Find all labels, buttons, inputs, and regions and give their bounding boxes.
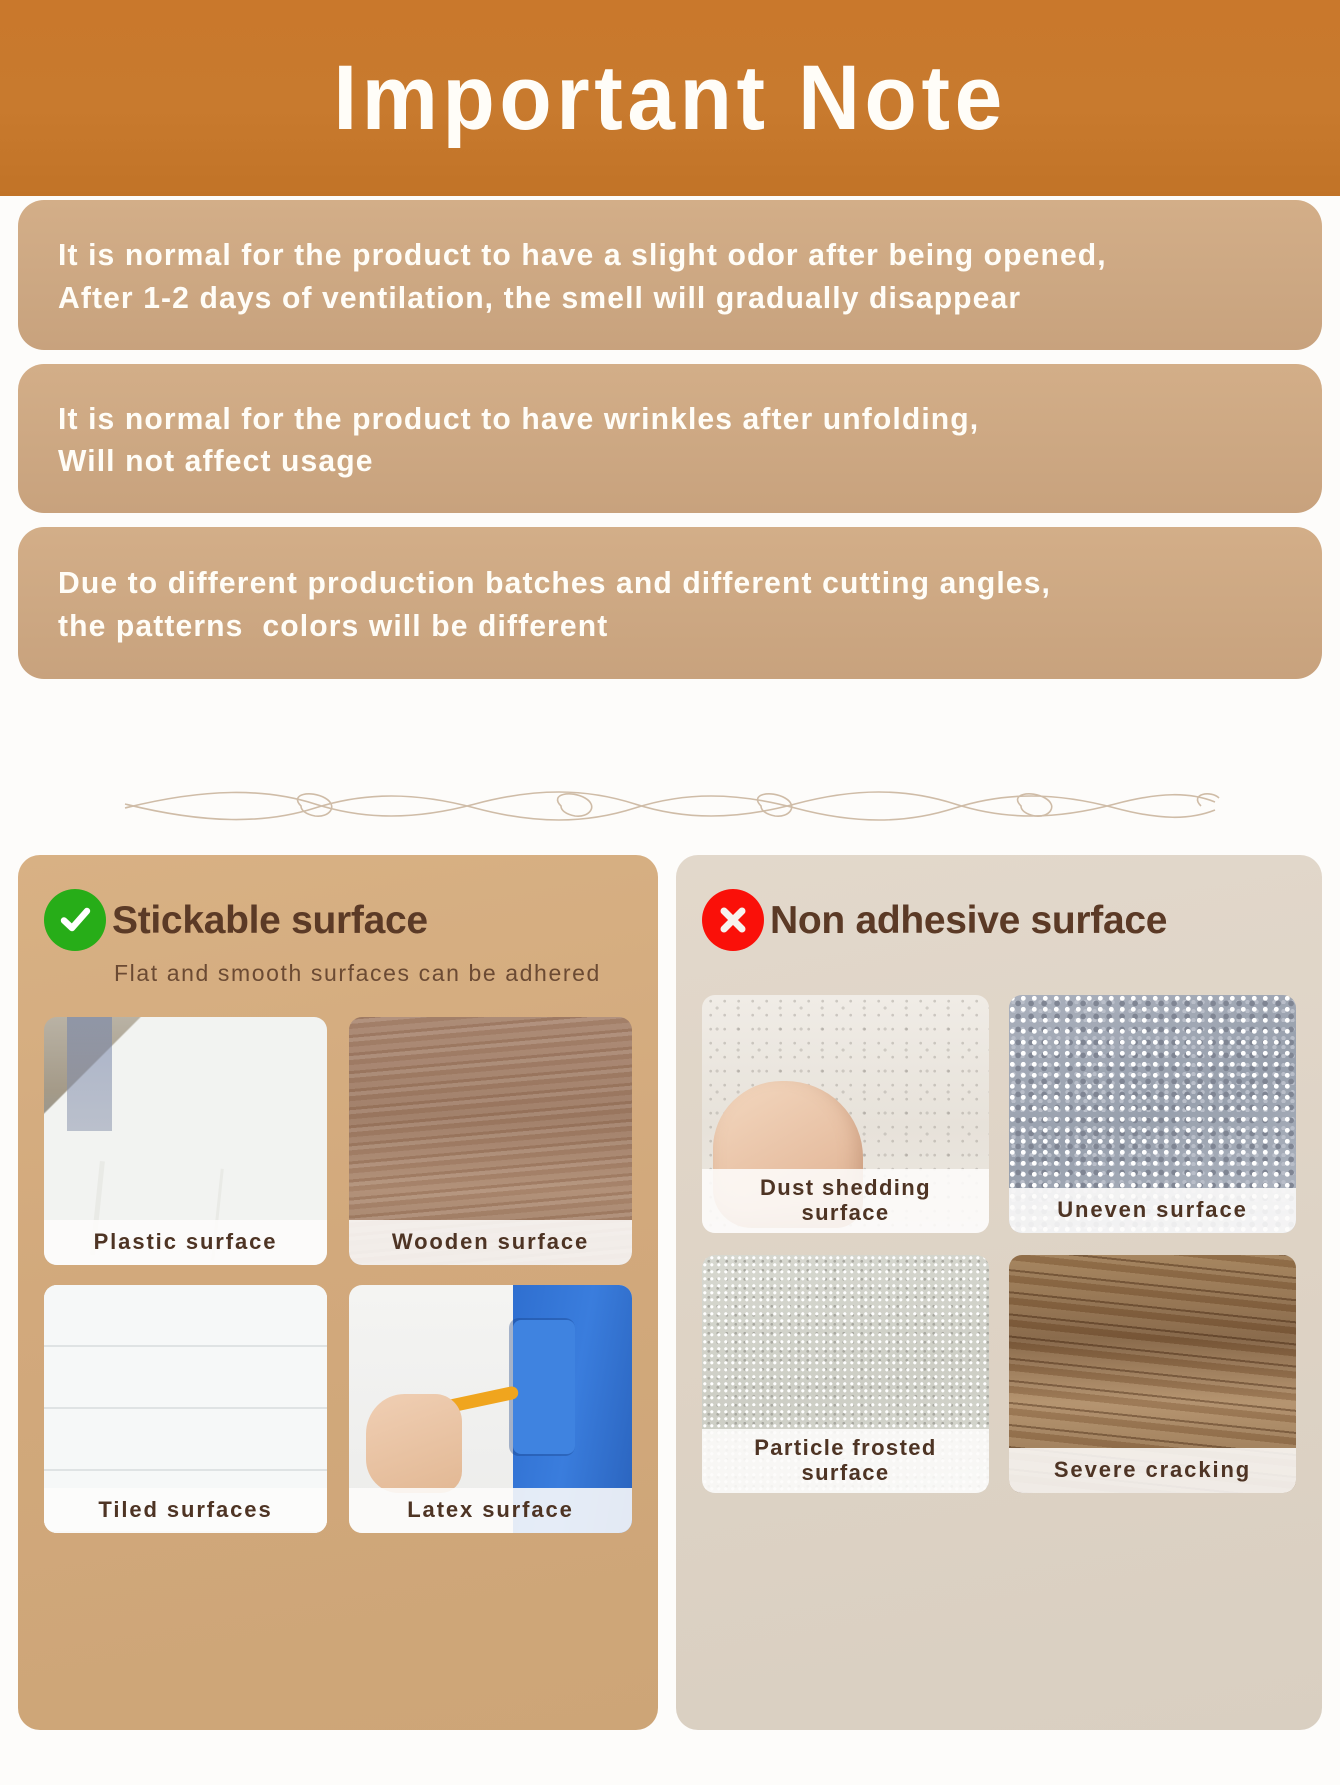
note-line: It is normal for the product to have a s… [58,234,1245,277]
note-line: After 1-2 days of ventilation, the smell… [58,277,1245,320]
surface-tile: Dust shedding surface [702,995,989,1233]
tile-caption: Plastic surface [44,1220,327,1265]
non-adhesive-panel-title: Non adhesive surface [770,901,1167,940]
surface-tile: Tiled surfaces [44,1285,327,1533]
page-title: Important Note [333,52,1007,144]
tile-caption: Dust shedding surface [702,1169,989,1233]
surface-comparison: Stickable surface Flat and smooth surfac… [0,855,1340,1730]
surface-tile: Wooden surface [349,1017,632,1265]
red-x-circle-icon [702,889,764,951]
tile-caption: Wooden surface [349,1220,632,1265]
wave-ribbon-divider-icon [115,782,1225,826]
tile-caption-line: surface [706,1200,985,1226]
x-glyph [715,902,751,938]
stickable-surface-panel: Stickable surface Flat and smooth surfac… [18,855,658,1730]
stickable-tile-grid: Plastic surface Wooden surface Tiled sur… [44,1017,632,1533]
non-adhesive-tile-grid: Dust shedding surface Uneven surface Par… [702,995,1296,1493]
stickable-panel-title: Stickable surface [112,901,428,940]
stickable-panel-subtitle: Flat and smooth surfaces can be adhered [114,960,632,987]
note-line: Will not affect usage [58,440,1245,483]
note-line: Due to different production batches and … [58,562,1245,605]
tile-caption: Particle frosted surface [702,1429,989,1493]
surface-tile: Plastic surface [44,1017,327,1265]
tile-caption-line: surface [706,1460,985,1486]
tile-caption-line: Particle frosted [706,1435,985,1461]
surface-tile: Latex surface [349,1285,632,1533]
tile-caption: Latex surface [349,1488,632,1533]
surface-tile: Severe cracking [1009,1255,1296,1493]
non-adhesive-surface-panel: Non adhesive surface Dust shedding surfa… [676,855,1322,1730]
tile-caption-line: Dust shedding [706,1175,985,1201]
note-card: It is normal for the product to have wri… [18,364,1322,514]
tile-caption: Tiled surfaces [44,1488,327,1533]
surface-tile: Uneven surface [1009,995,1296,1233]
tile-caption: Severe cracking [1009,1448,1296,1493]
tile-caption: Uneven surface [1009,1188,1296,1233]
note-line: It is normal for the product to have wri… [58,398,1245,441]
surface-tile: Particle frosted surface [702,1255,989,1493]
note-card: Due to different production batches and … [18,527,1322,679]
non-adhesive-panel-header: Non adhesive surface [702,889,1296,951]
header-banner: Important Note [0,0,1340,196]
check-glyph [56,901,94,939]
note-card: It is normal for the product to have a s… [18,200,1322,350]
product-info-graphic: Important Note It is normal for the prod… [0,0,1340,1785]
stickable-panel-header: Stickable surface [44,889,632,951]
section-divider [0,778,1340,830]
note-line: the patterns colors will be different [58,605,1245,648]
notes-list: It is normal for the product to have a s… [0,200,1340,693]
green-check-circle-icon [44,889,106,951]
